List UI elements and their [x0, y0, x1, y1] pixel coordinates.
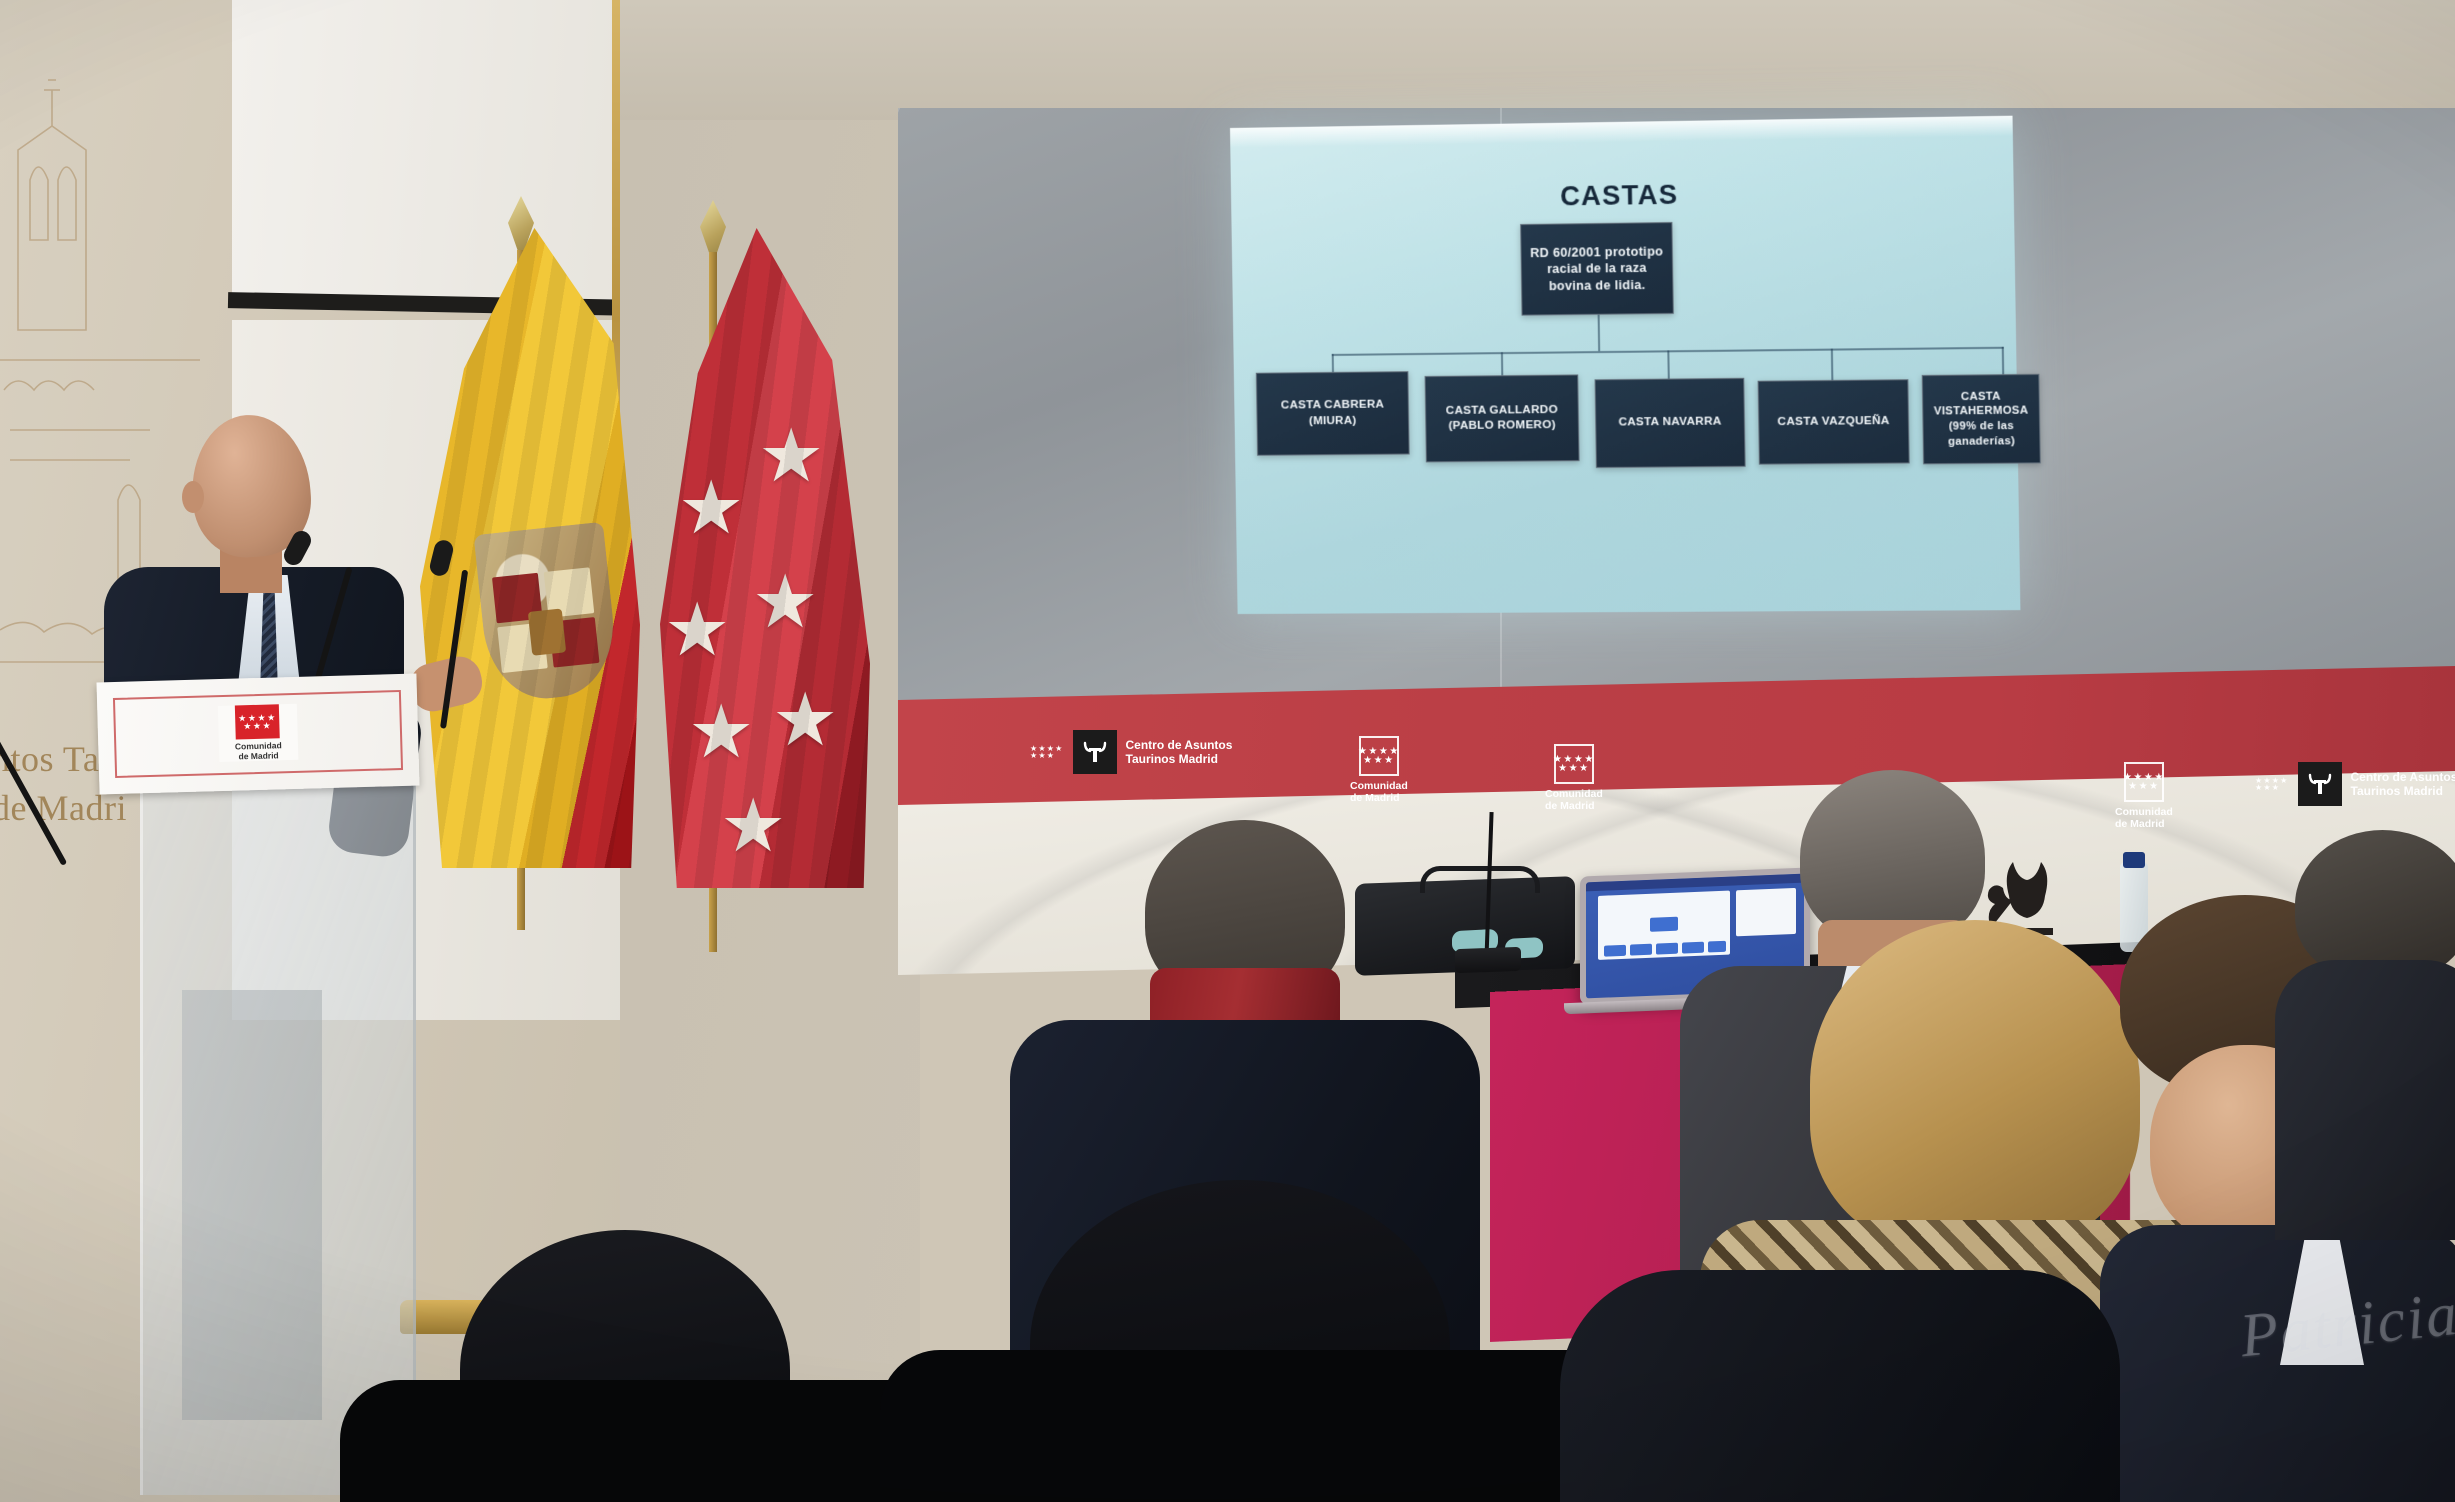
coat	[2100, 1225, 2455, 1502]
coat	[2275, 960, 2455, 1240]
bull-m-icon	[2298, 762, 2342, 806]
slide-node-casta-gallardo: CASTA GALLARDO (PABLO ROMERO)	[1425, 374, 1580, 462]
banner-logo-label: Comunidad de Madrid	[2115, 806, 2173, 830]
comunidad-madrid-icon: ★★★★ ★★★	[1359, 736, 1399, 776]
connector-drop-2	[1501, 352, 1503, 376]
connector-drop-4	[1831, 349, 1834, 380]
coat	[1560, 1270, 2120, 1502]
connector-drop-5	[2002, 347, 2005, 375]
slide-node-casta-vistahermosa: CASTA VISTAHERMOSA (99% de las ganadería…	[1922, 374, 2041, 465]
banner-logo-label: Comunidad de Madrid	[1350, 780, 1408, 804]
comunidad-madrid-icon: ★★★★ ★★★	[235, 704, 280, 739]
stars-icon: ★★★★ ★★★	[2123, 774, 2165, 790]
wall-panel-upper	[232, 0, 632, 300]
banner-logo-comunidad-3: ★★★★ ★★★ Comunidad de Madrid	[2115, 762, 2173, 830]
coat	[880, 1350, 1640, 1502]
banner-logo-label: Centro de Asuntos Taurinos Madrid	[1126, 738, 1233, 766]
banner-logo-comunidad-1: ★★★★ ★★★ Comunidad de Madrid	[1350, 736, 1408, 804]
podium-logo-label: Comunidad de Madrid	[235, 741, 282, 761]
audience-front-center	[880, 1180, 1640, 1502]
slide-title: CASTAS	[1231, 175, 2014, 217]
slide-root-node: RD 60/2001 prototipo racial de la raza b…	[1520, 222, 1674, 316]
audience-front-left	[340, 1230, 960, 1502]
banner-logo-label: Centro de Asuntos Taurinos Madrid	[2351, 770, 2455, 798]
banner-logo-centro-taurinos-1: ★★★★ ★★★ Centro de Asuntos Taurinos Madr…	[1030, 730, 1232, 774]
slide-node-casta-vazquena: CASTA VAZQUEÑA	[1758, 379, 1910, 464]
presentation-slide: CASTAS RD 60/2001 prototipo racial de la…	[1230, 116, 2020, 614]
hair	[1810, 920, 2140, 1250]
stars-icon: ★★★★ ★★★	[238, 714, 277, 730]
comunidad-madrid-icon: ★★★★ ★★★	[1554, 744, 1594, 784]
speaker-ear	[182, 481, 204, 513]
connector-root-down	[1598, 315, 1601, 351]
audience-far-right	[2295, 830, 2455, 1230]
stars-icon: ★★★★ ★★★	[2255, 778, 2289, 790]
podium-inner-panel	[182, 990, 322, 1420]
stars-icon: ★★★★ ★★★	[1030, 746, 1064, 758]
podium-sign: ★★★★ ★★★ Comunidad de Madrid	[96, 674, 419, 795]
banner-logo-centro-taurinos-2: ★★★★ ★★★ Centro de Asuntos Taurinos Madr…	[2255, 762, 2455, 806]
projection-screen: CASTAS RD 60/2001 prototipo racial de la…	[1230, 116, 2020, 614]
hair	[2295, 830, 2455, 980]
water-bottle-cap	[2123, 852, 2145, 868]
bull-m-icon	[1073, 730, 1117, 774]
stars-icon: ★★★★ ★★★	[1553, 756, 1595, 772]
audience-front-right	[1560, 1270, 2120, 1502]
banner-logo-comunidad-2: ★★★★ ★★★ Comunidad de Madrid	[1545, 744, 1603, 812]
banner-logo-label: Comunidad de Madrid	[1545, 788, 1603, 812]
hair	[1800, 770, 1985, 945]
slide-node-casta-cabrera: CASTA CABRERA (MIURA)	[1256, 371, 1410, 456]
podium-comunidad-logo: ★★★★ ★★★ Comunidad de Madrid	[218, 704, 298, 762]
stars-icon: ★★★★ ★★★	[1358, 748, 1400, 764]
coat	[340, 1380, 960, 1502]
connector-drop-3	[1667, 350, 1669, 378]
comunidad-madrid-icon: ★★★★ ★★★	[2124, 762, 2164, 802]
presentation-photo-scene: ntos Tau de Madri CASTAS RD 60/2001 prot…	[0, 0, 2455, 1502]
slide-node-casta-navarra: CASTA NAVARRA	[1595, 378, 1746, 468]
upper-wall	[620, 0, 2455, 120]
